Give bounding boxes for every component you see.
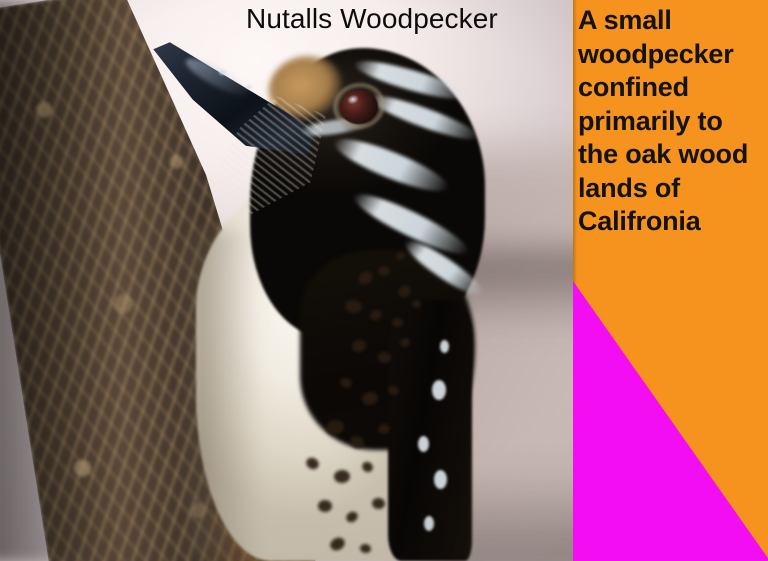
- page-title: Nutalls Woodpecker: [246, 2, 498, 36]
- caption-text: A small woodpecker confined primarily to…: [578, 4, 768, 239]
- bird-wing-spot: [440, 340, 449, 353]
- bird-wing-spot: [432, 380, 446, 400]
- bird-wing-spot: [418, 436, 429, 452]
- bird-wing-spot: [424, 516, 434, 531]
- bird-wing-spot: [434, 470, 447, 489]
- slide-canvas: Nutalls Woodpecker A small woodpecker co…: [0, 0, 768, 561]
